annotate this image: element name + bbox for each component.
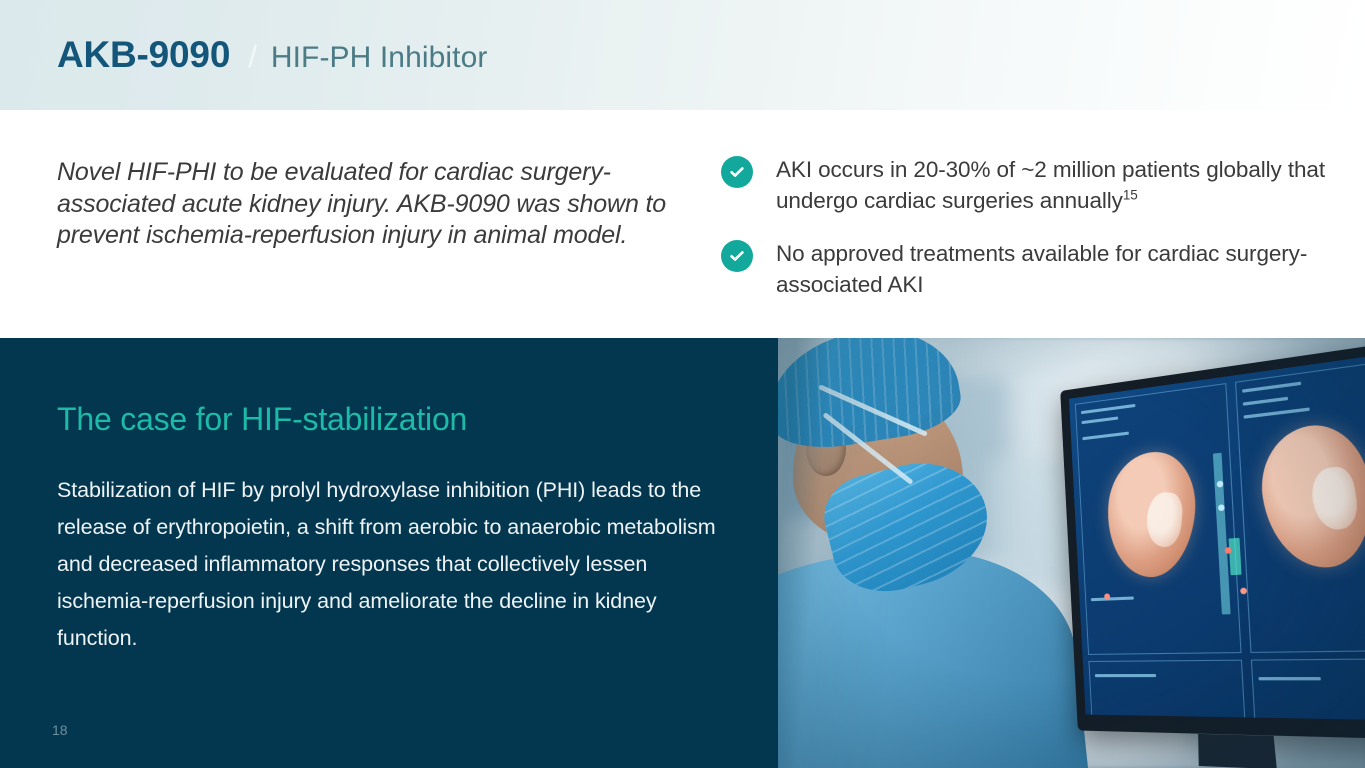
bullet-text: AKI occurs in 20-30% of ~2 million patie… (776, 154, 1331, 216)
case-text-block: The case for HIF-stabilization Stabiliza… (57, 338, 757, 657)
photo-vignette (778, 338, 1365, 768)
list-item: No approved treatments available for car… (721, 238, 1331, 300)
page-subtitle: HIF-PH Inhibitor (271, 41, 488, 75)
page-number: 18 (52, 722, 68, 738)
page-title: AKB-9090 (57, 34, 230, 76)
footnote-marker: 15 (1123, 188, 1138, 203)
check-circle-icon (721, 156, 753, 188)
title-separator: / (248, 39, 257, 75)
surgery-photo (778, 338, 1365, 768)
case-section: The case for HIF-stabilization Stabiliza… (0, 338, 1365, 768)
bullet-body: No approved treatments available for car… (776, 241, 1307, 297)
intro-lede-text: Novel HIF-PHI to be evaluated for cardia… (57, 157, 677, 252)
slide-header: AKB-9090 / HIF-PH Inhibitor (0, 0, 1365, 110)
case-heading: The case for HIF-stabilization (57, 401, 757, 438)
header-title-group: AKB-9090 / HIF-PH Inhibitor (0, 34, 487, 76)
case-body-text: Stabilization of HIF by prolyl hydroxyla… (57, 472, 729, 657)
check-circle-icon (721, 240, 753, 272)
bullet-text: No approved treatments available for car… (776, 238, 1331, 300)
intro-section: Novel HIF-PHI to be evaluated for cardia… (0, 110, 1365, 338)
bullet-body: AKI occurs in 20-30% of ~2 million patie… (776, 157, 1325, 213)
slide: AKB-9090 / HIF-PH Inhibitor Novel HIF-PH… (0, 0, 1365, 768)
list-item: AKI occurs in 20-30% of ~2 million patie… (721, 154, 1331, 216)
bullet-list: AKI occurs in 20-30% of ~2 million patie… (721, 154, 1331, 322)
